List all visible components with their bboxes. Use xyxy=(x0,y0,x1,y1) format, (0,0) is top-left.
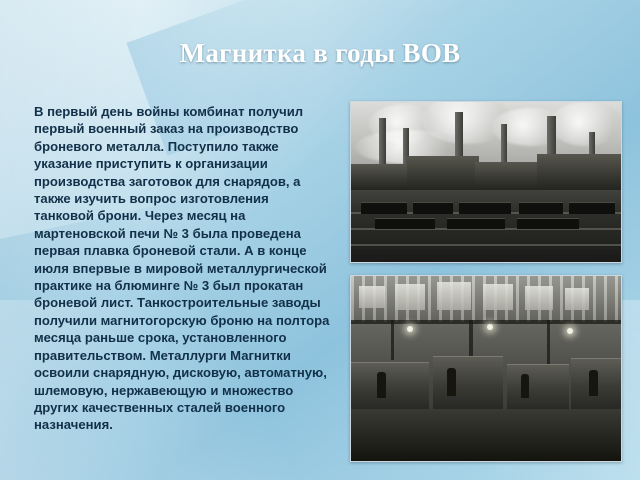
factory-building-shape xyxy=(407,156,479,190)
rail-car-shape xyxy=(517,218,579,229)
slide-title: Магнитка в годы ВОВ xyxy=(0,38,640,69)
window-shape xyxy=(525,286,553,310)
support-column-shape xyxy=(391,320,394,360)
worker-figure-shape xyxy=(377,372,386,398)
factory-workshop-interior-photo xyxy=(350,275,622,462)
rail-car-shape xyxy=(447,218,505,229)
rail-car-shape xyxy=(413,202,453,214)
ceiling-lamp-icon xyxy=(567,328,573,334)
worker-figure-shape xyxy=(589,370,598,396)
presentation-slide: Магнитка в годы ВОВ В первый день войны … xyxy=(0,0,640,480)
ceiling-lamp-icon xyxy=(407,326,413,332)
ceiling-lamp-icon xyxy=(487,324,493,330)
support-column-shape xyxy=(547,320,550,364)
railway-line-shape xyxy=(351,244,621,246)
rail-car-shape xyxy=(375,218,435,229)
window-shape xyxy=(395,284,425,310)
smoke-plume-icon xyxy=(549,102,622,146)
worker-figure-shape xyxy=(521,374,529,398)
rail-car-shape xyxy=(519,202,563,214)
rail-car-shape xyxy=(459,202,511,214)
window-shape xyxy=(437,282,471,310)
rail-car-shape xyxy=(361,202,407,214)
factory-building-shape xyxy=(351,164,411,190)
worker-figure-shape xyxy=(447,368,456,396)
window-shape xyxy=(565,288,589,310)
window-shape xyxy=(359,286,385,308)
slide-body-text: В первый день войны комбинат получил пер… xyxy=(34,103,330,434)
rail-car-shape xyxy=(569,202,615,214)
factory-building-shape xyxy=(537,154,621,190)
factory-building-shape xyxy=(475,162,541,190)
window-shape xyxy=(483,284,513,310)
workshop-floor-shape xyxy=(351,409,621,461)
magnitogorsk-plant-exterior-photo xyxy=(350,101,622,263)
